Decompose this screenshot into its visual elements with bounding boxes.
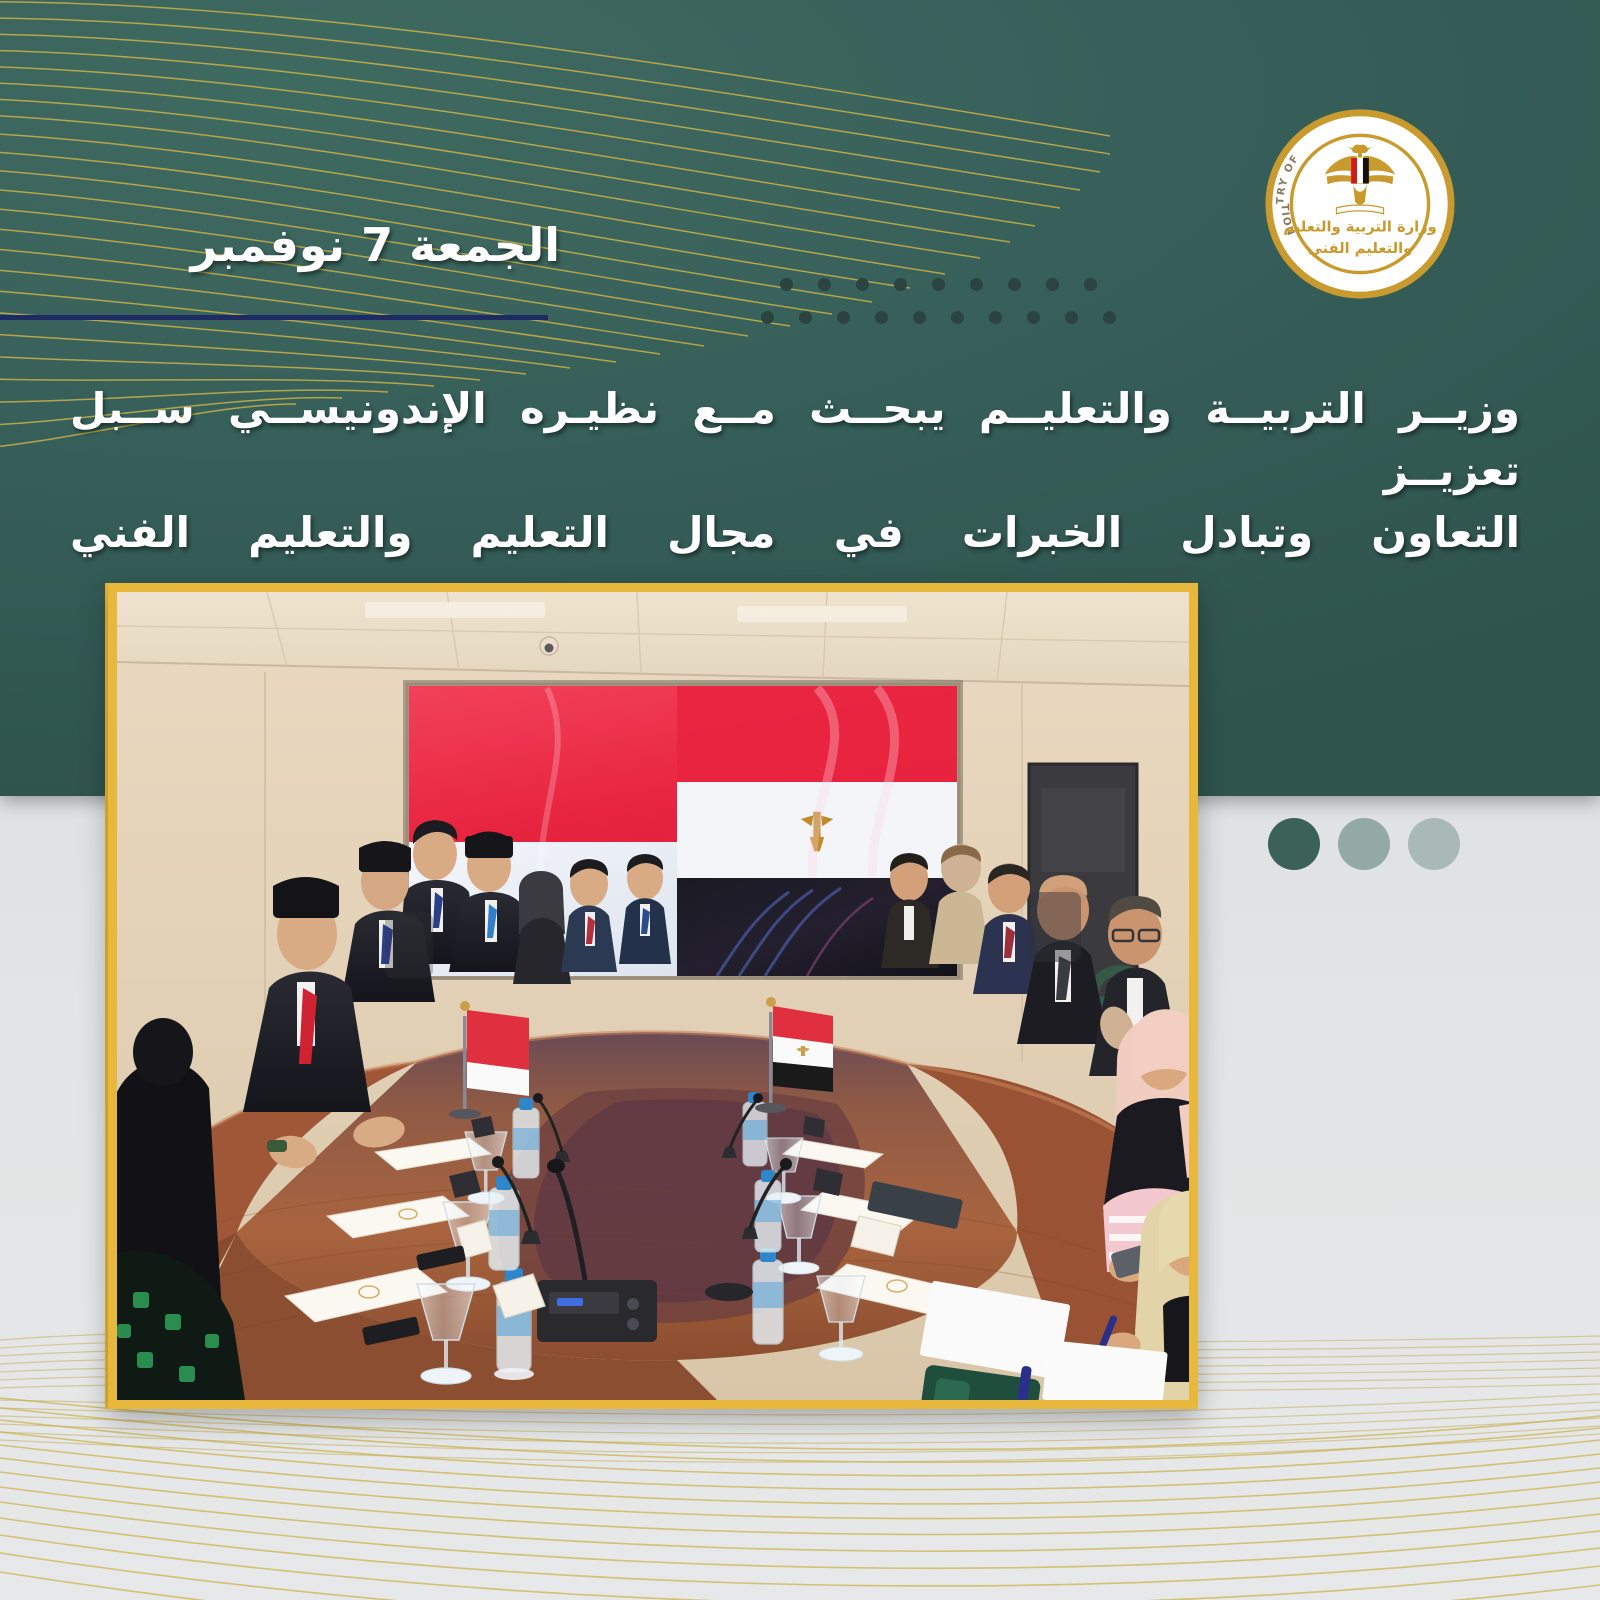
- headline-line-1: وزيــر التربيــة والتعليــم يبحــث مــع …: [70, 384, 1520, 495]
- dot-2: [1338, 818, 1390, 870]
- photo-frame: e: [108, 583, 1198, 1409]
- ministry-of-education-seal: EDUCATION AND TECHNICAL EDUCATION MINIST…: [1262, 106, 1458, 302]
- dot-3: [1408, 818, 1460, 870]
- bilateral-meeting-photograph: e: [117, 592, 1189, 1400]
- page-title: وزيــر التربيــة والتعليــم يبحــث مــع …: [70, 378, 1520, 564]
- headline-line-2: التعاون وتبادل الخبرات في مجال التعليم و…: [70, 502, 1520, 564]
- navy-divider: [0, 315, 548, 320]
- svg-text:وزارة التربية والتعليم: وزارة التربية والتعليم: [1283, 218, 1437, 235]
- svg-text:والتعليم الفني: والتعليم الفني: [1308, 240, 1413, 257]
- three-dot-indicator: [1268, 818, 1468, 872]
- dotted-grid-pattern: [770, 278, 1100, 330]
- date-label: الجمعة 7 نوفمبر: [191, 218, 560, 272]
- dot-1: [1268, 818, 1320, 870]
- news-card-root: الجمعة 7 نوفمبر وزيــر التربيــة والتعلي…: [0, 0, 1600, 1600]
